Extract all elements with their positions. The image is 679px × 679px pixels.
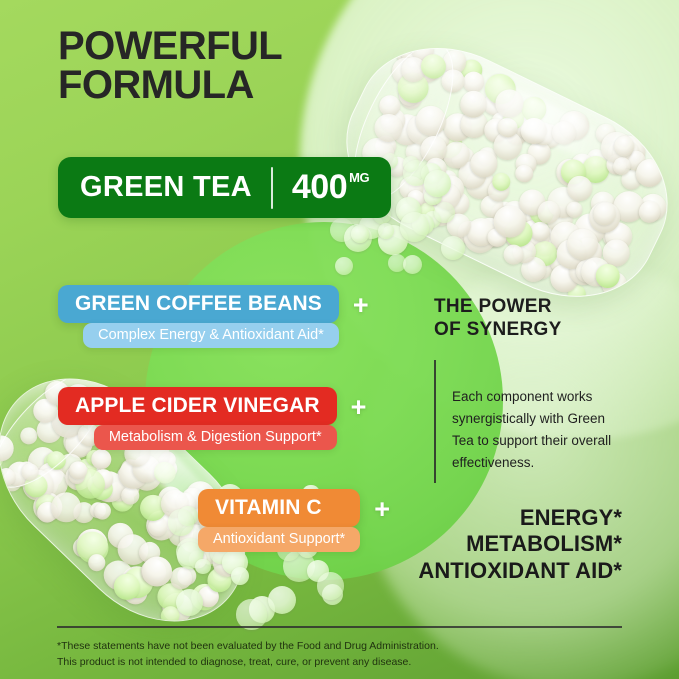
plus-icon: +: [351, 394, 367, 421]
outcome-item: ENERGY*: [418, 505, 622, 531]
outcome-item: ANTIOXIDANT AID*: [418, 558, 622, 584]
headline-line-2: FORMULA: [58, 66, 282, 105]
ingredient-name: APPLE CIDER VINEGAR: [58, 387, 337, 425]
disclaimer-line-2: This product is not intended to diagnose…: [57, 654, 439, 670]
ingredient-labels: APPLE CIDER VINEGAR Metabolism & Digesti…: [58, 387, 337, 450]
ingredient-benefit: Metabolism & Digestion Support*: [94, 425, 337, 450]
headline-line-1: POWERFUL: [58, 27, 282, 66]
hero-dose-value: 400: [292, 168, 347, 207]
ingredient-row-vitamin-c: VITAMIN C Antioxidant Support* +: [198, 489, 390, 552]
disclaimer-line-1: *These statements have not been evaluate…: [57, 638, 439, 654]
ingredient-benefit: Complex Energy & Antioxidant Aid*: [83, 323, 339, 348]
plus-icon: +: [374, 496, 390, 523]
ingredient-labels: VITAMIN C Antioxidant Support*: [198, 489, 360, 552]
page-title: POWERFUL FORMULA: [58, 27, 282, 105]
ingredient-labels: GREEN COFFEE BEANS Complex Energy & Anti…: [58, 285, 339, 348]
synergy-vertical-rule: [434, 360, 436, 483]
ingredient-name: VITAMIN C: [198, 489, 360, 527]
hero-ingredient-dose: 400 MG: [292, 168, 369, 207]
outcome-item: METABOLISM*: [418, 531, 622, 557]
ingredient-row-apple-cider-vinegar: APPLE CIDER VINEGAR Metabolism & Digesti…: [58, 387, 366, 450]
hero-dose-unit: MG: [349, 170, 369, 185]
hero-ingredient-badge: GREEN TEA 400 MG: [58, 157, 391, 218]
footer-divider: [57, 626, 622, 628]
plus-icon: +: [353, 292, 369, 319]
disclaimer: *These statements have not been evaluate…: [57, 638, 439, 671]
synergy-description: Each component works synergistically wit…: [452, 386, 627, 473]
ingredient-benefit: Antioxidant Support*: [198, 527, 360, 552]
ingredient-row-green-coffee-beans: GREEN COFFEE BEANS Complex Energy & Anti…: [58, 285, 369, 348]
synergy-heading-line-2: OF SYNERGY: [434, 318, 562, 341]
outcomes-list: ENERGY* METABOLISM* ANTIOXIDANT AID*: [418, 505, 622, 584]
ingredient-name: GREEN COFFEE BEANS: [58, 285, 339, 323]
synergy-heading: THE POWER OF SYNERGY: [434, 295, 562, 341]
infographic-content: POWERFUL FORMULA GREEN TEA 400 MG GREEN …: [0, 0, 679, 679]
synergy-heading-line-1: THE POWER: [434, 295, 562, 318]
hero-badge-divider: [271, 167, 273, 209]
hero-ingredient-name: GREEN TEA: [80, 171, 252, 204]
